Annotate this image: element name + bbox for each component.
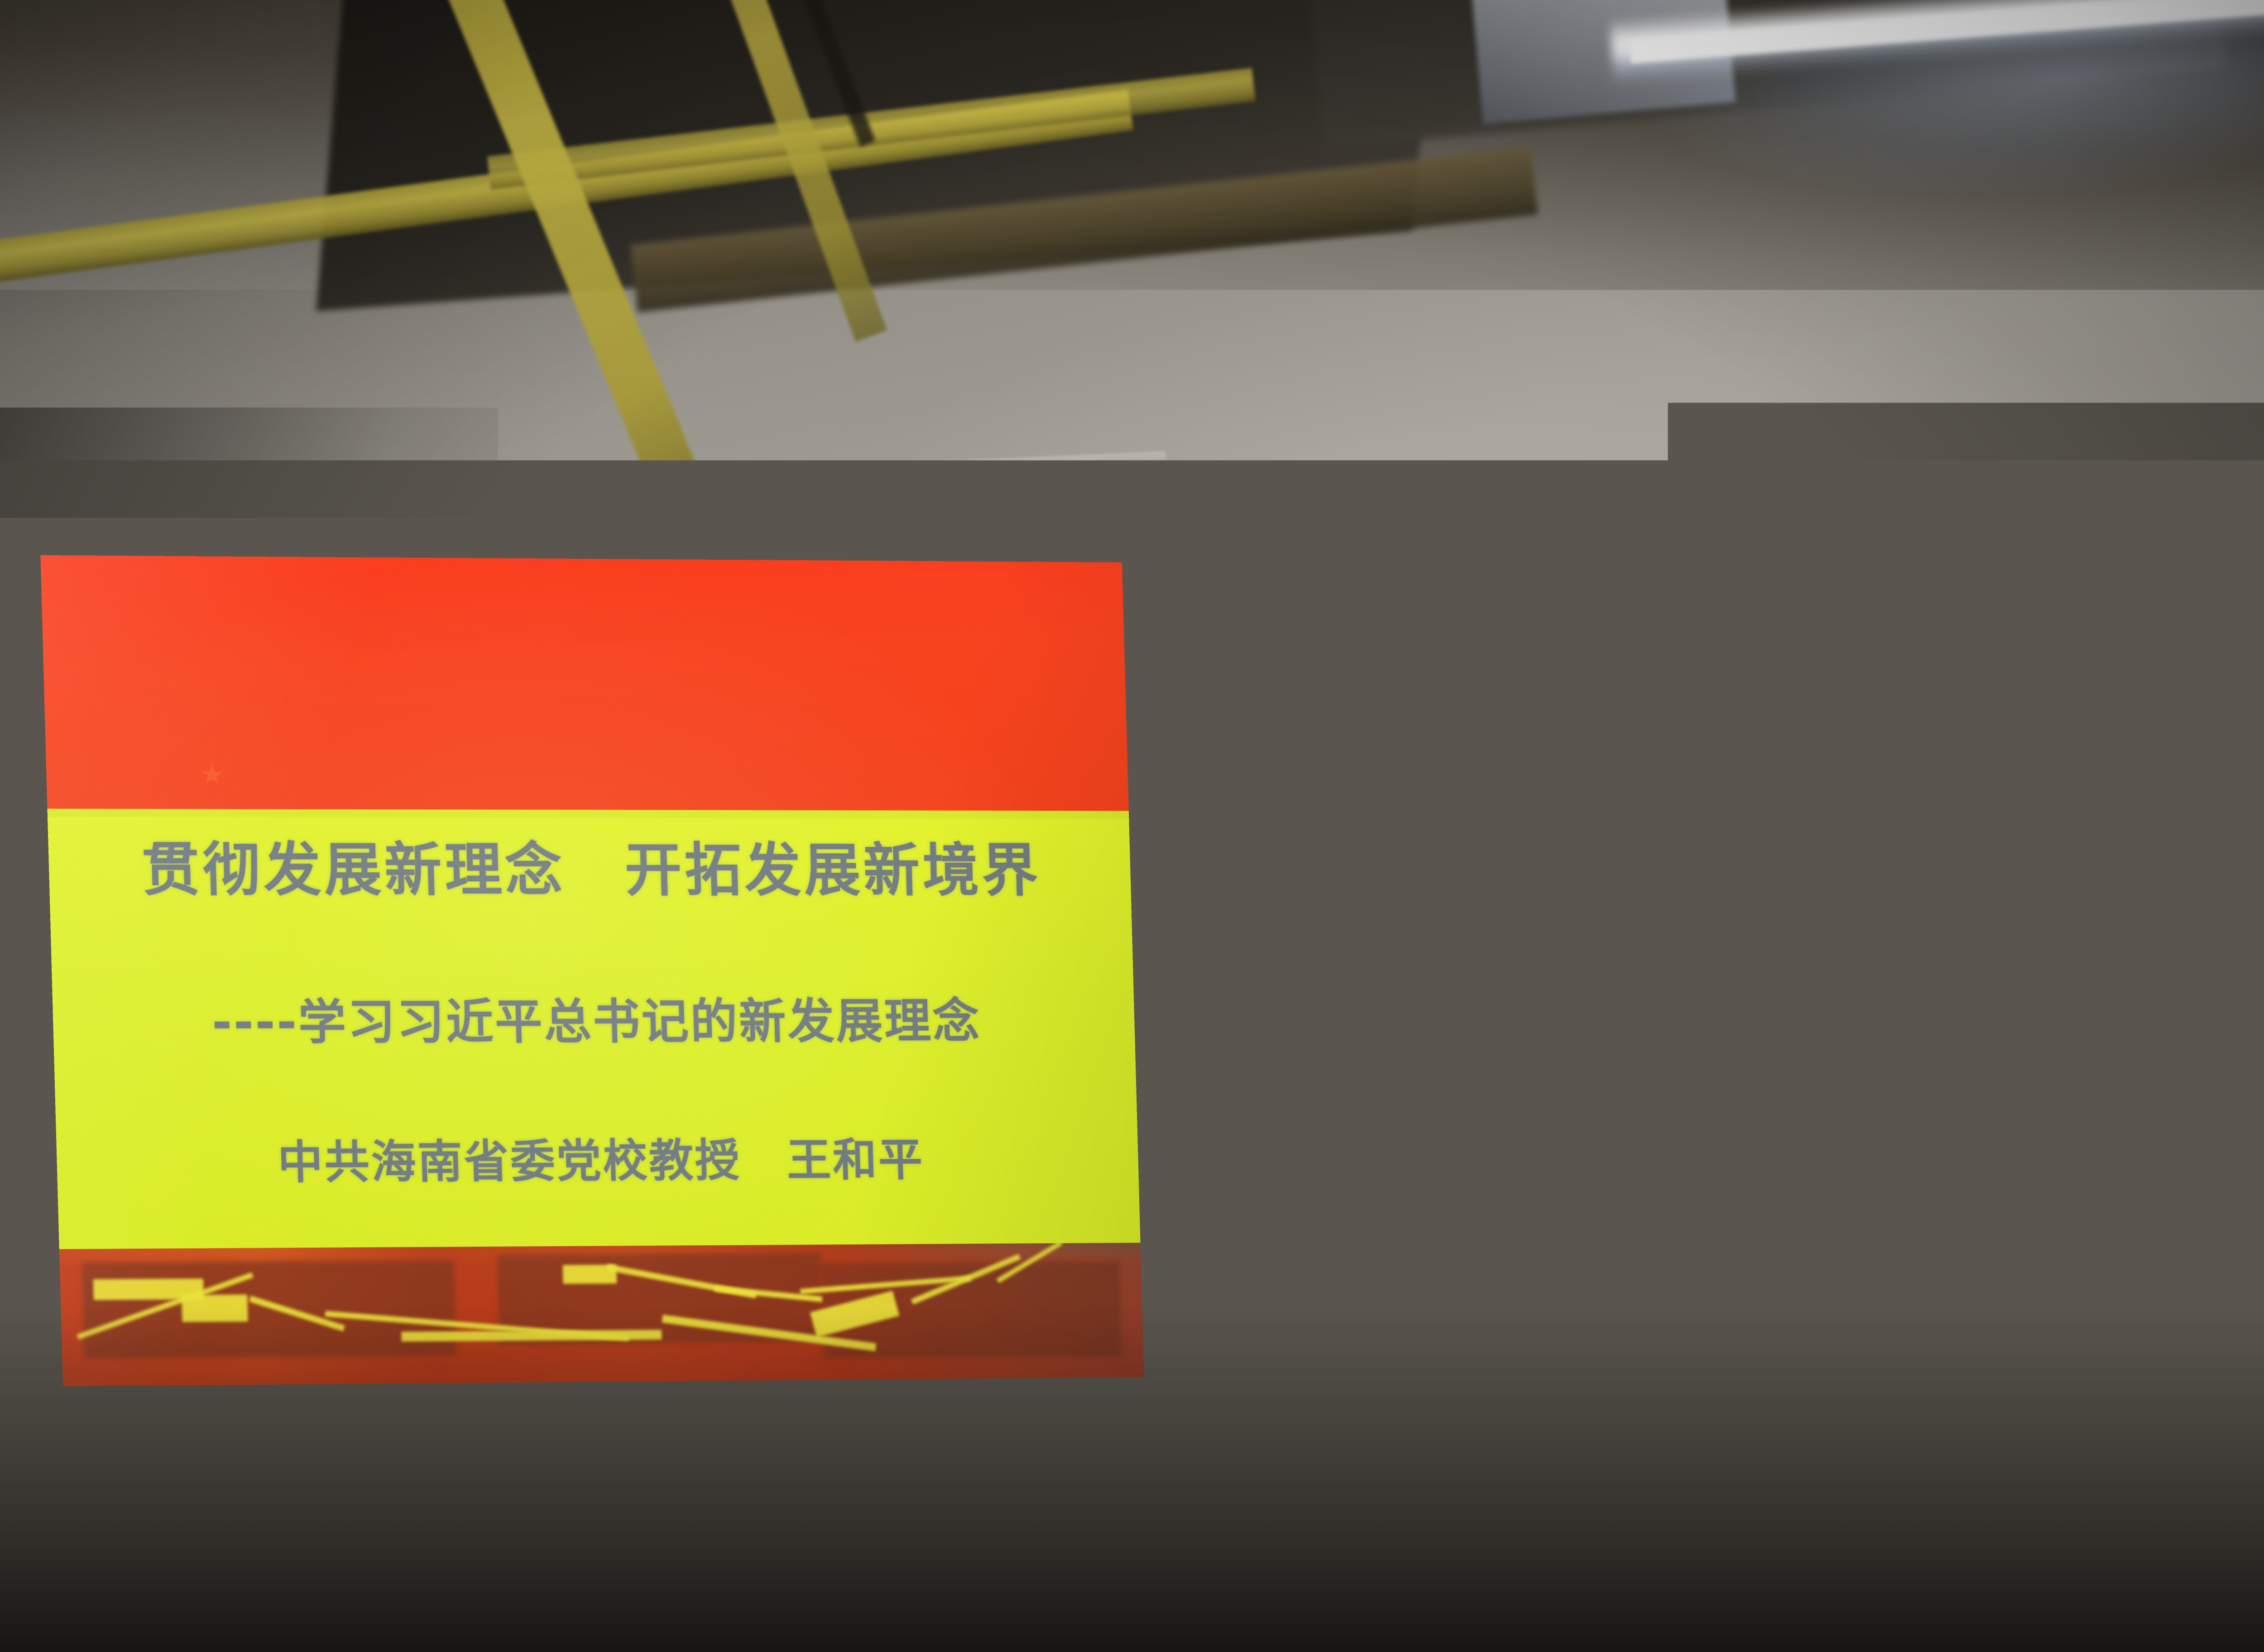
speaker-eyebrow (2102, 1100, 2146, 1105)
slide-text-block: 贯彻发展新理念 开拓发展新境界 ----学习习近平总书记的新发展理念 中共海南省… (47, 805, 1142, 1287)
brand-name: Redleaf (1028, 505, 1079, 523)
speaker-hair (2016, 1032, 2165, 1137)
brand-dot-icon (1017, 511, 1025, 519)
speaker-eye (2050, 1117, 2068, 1124)
slide-subtitle: ----学习习近平总书记的新发展理念 (53, 995, 1135, 1050)
speaker-eye (2113, 1115, 2131, 1123)
blackboard-smudge (1885, 934, 2004, 993)
lecture-hall-photograph: Redleaf (0, 0, 2264, 1652)
flag-small-star-icon (200, 764, 224, 786)
foreground-shadow (0, 1308, 2264, 1652)
blackboard-smudge (1398, 1021, 1590, 1117)
presentation-slide: 贯彻发展新理念 开拓发展新境界 ----学习习近平总书记的新发展理念 中共海南省… (40, 555, 1144, 1386)
ceiling-vent (1278, 523, 1524, 649)
blackboard-smudge (1601, 843, 1747, 916)
projection-screen: 贯彻发展新理念 开拓发展新境界 ----学习习近平总书记的新发展理念 中共海南省… (22, 532, 1183, 1406)
screen-brand-label: Redleaf (1016, 505, 1079, 523)
slide-title: 贯彻发展新理念 开拓发展新境界 (48, 838, 1131, 903)
slide-author: 中共海南省委党校教授 王和平 (56, 1134, 1139, 1189)
speaker-eyebrow (2041, 1101, 2085, 1107)
speaker-nose (2079, 1128, 2103, 1156)
speaker-mouth (2077, 1160, 2112, 1172)
